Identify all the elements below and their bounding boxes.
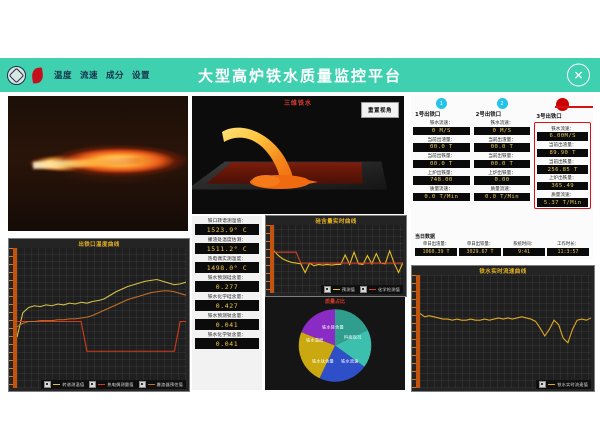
silicon-content-chart: 硅含量实时曲线 预测值 化学检测值 [265, 215, 407, 297]
readout-item: 热电偶实测温度： 1498.0° C [195, 256, 259, 274]
legend-swatch [53, 384, 60, 386]
field-value: 0 M/S [474, 127, 531, 135]
daily-cell: 单日出铁量： 3029.67 T [459, 241, 501, 256]
field-label: 质量流速： [474, 186, 531, 192]
nav-item-temperature[interactable]: 温度 [54, 69, 72, 81]
field-value: 00.0 T [474, 160, 531, 168]
readout-value: 0.041 [195, 319, 259, 330]
chart-title: 铁水实时流速曲线 [412, 267, 594, 275]
temperature-trend-chart: 出铁口温度曲线 转谱测温值 热电偶测量值 撇渣器预估值 [8, 238, 190, 392]
pie-label: 铁水温度 [306, 337, 324, 343]
chart-legend: 铁水实时流速值 [536, 380, 591, 389]
active-taphole-frame: 铁水流速： 6.00M/S 当前出渣量： 89.90 T 当前出铁量： 256.… [534, 122, 591, 209]
pie-label: 料面现况 [344, 334, 362, 340]
readout-value: 0.277 [195, 281, 259, 292]
readout-value: 1523.9° C [195, 224, 259, 235]
legend-entry[interactable]: 预测值 [324, 286, 355, 293]
readout-label: 撇渣处温度估测： [195, 237, 259, 243]
legend-checkbox-icon[interactable] [539, 381, 546, 388]
field-row: 当前出铁量： 00.0 T [474, 153, 531, 168]
field-label: 铁水流速： [474, 120, 531, 126]
daily-cell: 单日出渣量： 1060.39 T [415, 241, 457, 256]
readout-item: 撇渣处温度估测： 1511.2° C [195, 237, 259, 255]
daily-label: 单日出渣量： [415, 241, 457, 247]
legend-swatch [369, 289, 376, 291]
field-label: 当前出铁量： [474, 153, 531, 159]
readout-item: 铁水预测钛含量： 0.041 [195, 313, 259, 331]
daily-heading: 当日数据 [415, 233, 589, 240]
legend-entry[interactable]: 热电偶测量值 [89, 381, 133, 388]
chart-series-group [274, 225, 403, 293]
field-label: 质量流速： [413, 186, 470, 192]
taphole-title: 1号出铁口 [415, 110, 470, 118]
status-badge: 2 [497, 98, 508, 109]
flame-camera-feed [8, 96, 188, 231]
field-row: 铁水流速： 0 M/S [413, 120, 470, 135]
quality-share-pie-chart: 质量占比 铁水硅含量 铁水温度 铁水钛含量 铁水流速 料面现况 [265, 297, 405, 390]
legend-swatch [148, 384, 155, 386]
legend-label: 转谱测温值 [62, 382, 84, 388]
legend-checkbox-icon[interactable] [360, 286, 367, 293]
status-badge: 1 [436, 98, 447, 109]
readout-value: 0.041 [195, 338, 259, 349]
daily-label: 系统时间： [503, 241, 545, 247]
daily-value: 9:41 [503, 248, 545, 256]
field-row: 当前出渣量： 89.90 T [537, 142, 588, 157]
app-header: 温度 流速 成分 设置 大型高炉铁水质量监控平台 ✕ [0, 58, 600, 92]
readout-label: 热电偶实测温度： [195, 256, 259, 262]
flowrate-trend-chart: 铁水实时流速曲线 铁水实时流速值 [411, 265, 595, 392]
field-value: 0.0 T/Min [413, 193, 470, 201]
legend-checkbox-icon[interactable] [139, 381, 146, 388]
legend-swatch [98, 384, 105, 386]
pie-label: 铁水钛含量 [312, 358, 334, 364]
field-row: 当前出铁量： 00.0 T [413, 153, 470, 168]
legend-swatch [333, 289, 340, 291]
field-row: 质量流速： 5.37 T/Min [537, 192, 588, 207]
field-label: 当前出铁量： [537, 159, 588, 165]
chart-title: 硅含量实时曲线 [266, 217, 406, 225]
daily-row: 单日出渣量： 1060.39 T 单日出铁量： 3029.67 T 系统时间： … [415, 241, 589, 256]
readout-label: 铁水化学硅含量： [195, 294, 259, 300]
active-highlight-line [555, 106, 593, 108]
field-label: 当前出渣量： [413, 137, 470, 143]
daily-cell: 工作时长： 11:3:57 [547, 241, 589, 256]
daily-value: 11:3:57 [547, 248, 589, 256]
field-value: 256.85 T [537, 165, 588, 173]
taphole-data-panel: 1 1号出铁口 铁水流速： 0 M/S 当前出渣量： 00.0 T 当前出铁量：… [411, 96, 593, 259]
field-label: 当前出渣量： [537, 142, 588, 148]
chart-legend: 预测值 化学检测值 [321, 285, 403, 294]
readout-item: 铁口转谱测温值： 1523.9° C [195, 218, 259, 236]
taphole-title: 3号出铁口 [536, 112, 591, 120]
legend-entry[interactable]: 撇渣器预估值 [139, 381, 183, 388]
company-emblem-icon [7, 66, 26, 85]
legend-entry[interactable]: 转谱测温值 [44, 381, 84, 388]
field-value: 00.0 T [474, 143, 531, 151]
field-value: 0.00 [474, 176, 531, 184]
pie-label: 铁水流速 [341, 358, 359, 364]
daily-value: 3029.67 T [459, 248, 501, 256]
field-value: 0 M/S [413, 127, 470, 135]
brand-flame-icon [30, 67, 46, 84]
legend-checkbox-icon[interactable] [44, 381, 51, 388]
three-d-viewer[interactable]: 三维铁水 重置视角 [192, 96, 404, 214]
molten-iron-stream [220, 120, 325, 192]
chart-series-group [420, 275, 591, 388]
legend-label: 预测值 [342, 287, 355, 293]
close-icon[interactable]: ✕ [567, 64, 590, 87]
legend-entry[interactable]: 铁水实时流速值 [539, 381, 588, 388]
daily-label: 单日出铁量： [459, 241, 501, 247]
daily-label: 工作时长： [547, 241, 589, 247]
main-nav: 温度 流速 成分 设置 [54, 69, 150, 81]
reset-view-button[interactable]: 重置视角 [361, 102, 399, 118]
legend-label: 铁水实时流速值 [557, 382, 588, 388]
field-row: 当前出铁量： 256.85 T [537, 159, 588, 174]
nav-item-flowrate[interactable]: 流速 [80, 69, 98, 81]
app-root: 温度 流速 成分 设置 大型高炉铁水质量监控平台 ✕ 三维铁水 [0, 0, 600, 440]
logo-group [7, 66, 46, 85]
field-row: 铁水流速： 6.00M/S [537, 126, 588, 141]
field-row: 上炉出铁量： 365.49 [537, 175, 588, 190]
status-badge-active [556, 98, 569, 111]
field-row: 上炉出铁量： 748.00 [413, 170, 470, 185]
field-value: 00.0 T [413, 143, 470, 151]
field-row: 质量流速： 0.0 T/Min [474, 186, 531, 201]
field-value: 00.0 T [413, 160, 470, 168]
field-value: 0.0 T/Min [474, 193, 531, 201]
pie-svg [296, 308, 374, 382]
readout-label: 铁水预测钛含量： [195, 313, 259, 319]
daily-summary: 当日数据 单日出渣量： 1060.39 T 单日出铁量： 3029.67 T 系… [415, 233, 589, 256]
legend-checkbox-icon[interactable] [324, 286, 331, 293]
readout-item: 铁水化学钛含量： 0.041 [195, 332, 259, 350]
legend-swatch [548, 384, 555, 386]
field-label: 上炉出铁量： [474, 170, 531, 176]
legend-entry[interactable]: 化学检测值 [360, 286, 400, 293]
field-row: 上炉出铁量： 0.00 [474, 170, 531, 185]
legend-label: 热电偶测量值 [107, 382, 133, 388]
readout-value: 1511.2° C [195, 243, 259, 254]
field-label: 上炉出铁量： [537, 175, 588, 181]
daily-value: 1060.39 T [415, 248, 457, 256]
field-label: 当前出铁量： [413, 153, 470, 159]
field-label: 质量流速： [537, 192, 588, 198]
field-row: 铁水流速： 0 M/S [474, 120, 531, 135]
field-value: 89.90 T [537, 149, 588, 157]
field-row: 当前出渣量： 00.0 T [474, 137, 531, 152]
daily-cell: 系统时间： 9:41 [503, 241, 545, 256]
readout-label: 铁水化学钛含量： [195, 332, 259, 338]
readout-value: 1498.0° C [195, 262, 259, 273]
legend-label: 化学检测值 [378, 287, 400, 293]
pie-title: 质量占比 [265, 298, 405, 305]
pie-label: 铁水硅含量 [322, 324, 344, 330]
legend-label: 撇渣器预估值 [157, 382, 183, 388]
readout-item: 铁水化学硅含量： 0.427 [195, 294, 259, 312]
readout-value: 0.427 [195, 300, 259, 311]
chart-legend: 转谱测温值 热电偶测量值 撇渣器预估值 [41, 380, 186, 389]
nav-item-composition[interactable]: 成分 [106, 69, 124, 81]
readout-item: 铁水预测硅含量： 0.277 [195, 275, 259, 293]
chart-title: 出铁口温度曲线 [9, 240, 189, 248]
readout-label: 铁口转谱测温值： [195, 218, 259, 224]
measurement-readout-panel: 铁口转谱测温值： 1523.9° C 撇渣处温度估测： 1511.2° C 热电… [192, 216, 262, 390]
readout-label: 铁水预测硅含量： [195, 275, 259, 281]
chart-series-group [17, 248, 186, 388]
field-value: 365.49 [537, 182, 588, 190]
legend-checkbox-icon[interactable] [89, 381, 96, 388]
field-value: 6.00M/S [537, 132, 588, 140]
field-value: 748.00 [413, 176, 470, 184]
field-label: 当前出渣量： [474, 137, 531, 143]
field-row: 质量流速： 0.0 T/Min [413, 186, 470, 201]
field-label: 铁水流速： [413, 120, 470, 126]
field-label: 铁水流速： [537, 126, 588, 132]
taphole-title: 2号出铁口 [476, 110, 531, 118]
field-label: 上炉出铁量： [413, 170, 470, 176]
field-value: 5.37 T/Min [537, 198, 588, 206]
nav-item-settings[interactable]: 设置 [132, 69, 150, 81]
pie-graphic: 铁水硅含量 铁水温度 铁水钛含量 铁水流速 料面现况 [296, 308, 374, 382]
field-row: 当前出渣量： 00.0 T [413, 137, 470, 152]
